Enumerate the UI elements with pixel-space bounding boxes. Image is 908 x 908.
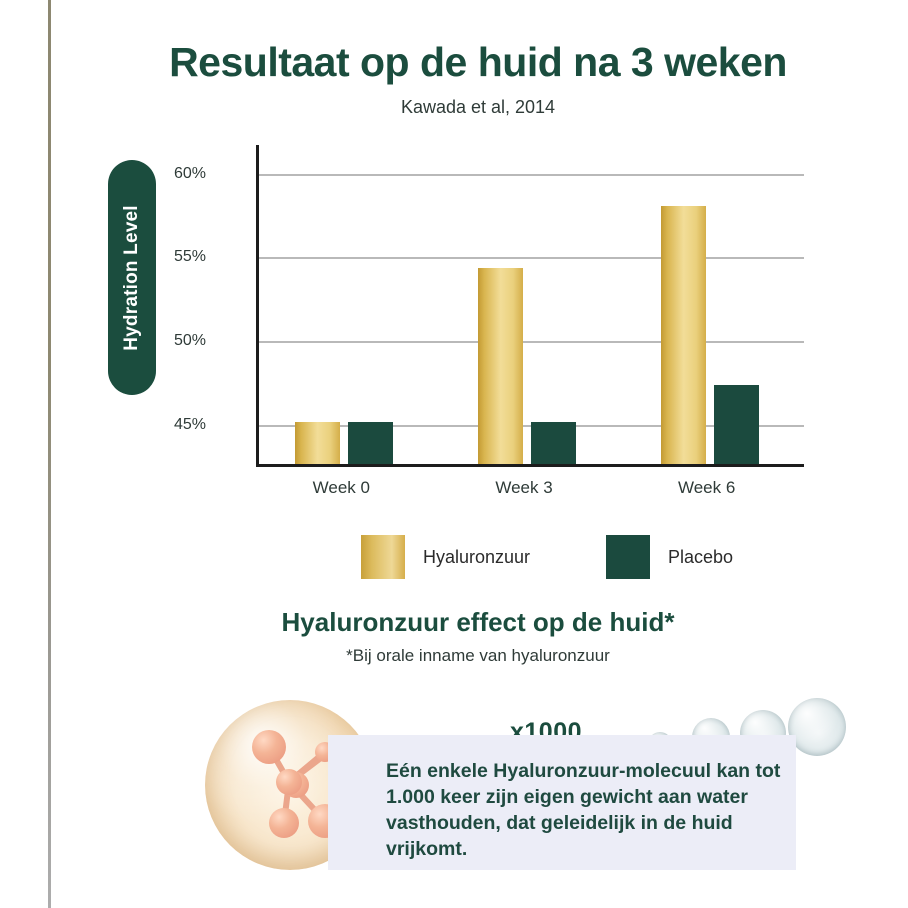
y-tick-label: 50% [116, 332, 206, 350]
y-axis-label-text: Hydration Level [121, 205, 143, 351]
x-axis-labels: Week 0Week 3Week 6 [256, 478, 804, 508]
hydration-bar-chart: 45%50%55%60% Week 0Week 3Week 6 [196, 140, 816, 485]
left-edge-rule [48, 0, 51, 908]
legend-item-placebo[interactable]: Placebo [606, 535, 733, 579]
molecule-node [269, 808, 299, 838]
x-tick-label: Week 0 [281, 478, 401, 498]
molecule-node [252, 730, 286, 764]
bar-group [259, 145, 442, 464]
plot-area [256, 145, 804, 467]
page-subtitle: Kawada et al, 2014 [78, 97, 878, 118]
x-tick-label: Week 6 [647, 478, 767, 498]
bar-group [442, 145, 625, 464]
water-droplet-icon [788, 698, 846, 756]
y-tick-label: 60% [116, 165, 206, 183]
y-tick-label: 45% [116, 416, 206, 434]
bar-placebo-week-3 [531, 422, 576, 464]
chart-legend: HyaluronzuurPlacebo [196, 535, 816, 579]
legend-item-hyaluronzuur[interactable]: Hyaluronzuur [361, 535, 530, 579]
bar-hyaluronzuur-week-6 [661, 206, 706, 464]
y-axis-label-pill: Hydration Level [108, 160, 156, 395]
legend-swatch-icon [606, 535, 650, 579]
callout-box: Eén enkele Hyaluronzuur-molecuul kan tot… [328, 735, 796, 870]
section-heading: Hyaluronzuur effect op de huid* [78, 607, 878, 638]
page-title: Resultaat op de huid na 3 weken [78, 40, 878, 85]
legend-swatch-icon [361, 535, 405, 579]
section-footnote: *Bij orale inname van hyaluronzuur [78, 646, 878, 666]
bar-placebo-week-6 [714, 385, 759, 464]
bar-placebo-week-0 [348, 422, 393, 464]
x-tick-label: Week 3 [464, 478, 584, 498]
bar-group [624, 145, 807, 464]
legend-label: Hyaluronzuur [423, 547, 530, 568]
y-tick-label: 55% [116, 248, 206, 266]
infographic-page: Resultaat op de huid na 3 weken Kawada e… [0, 0, 908, 908]
bar-hyaluronzuur-week-3 [478, 268, 523, 464]
bar-hyaluronzuur-week-0 [295, 422, 340, 464]
bar-series-container [259, 145, 804, 464]
molecule-core-node [276, 769, 302, 795]
callout-text: Eén enkele Hyaluronzuur-molecuul kan tot… [386, 759, 782, 863]
legend-label: Placebo [668, 547, 733, 568]
